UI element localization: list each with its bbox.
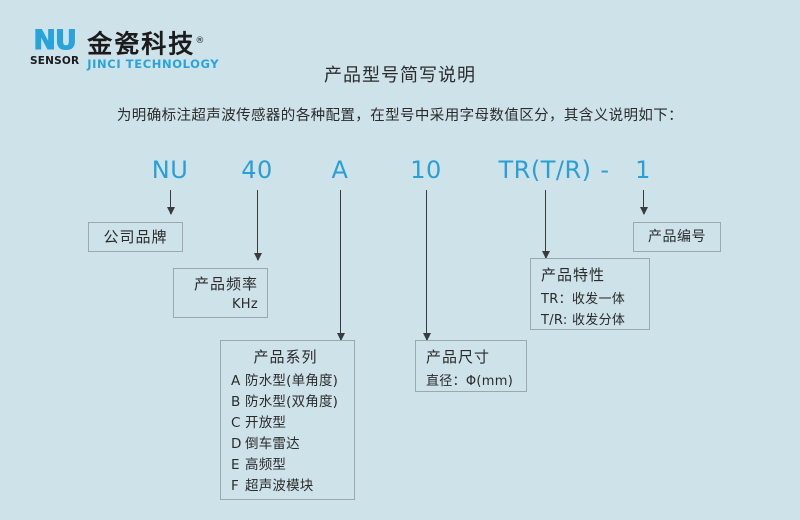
series-label-f: 超声波模块 [245,478,314,494]
arrow-brand [170,190,171,214]
series-item-c: C开放型 [231,413,344,434]
series-item-b: B防水型(双角度) [231,392,344,413]
series-label-a: 防水型(单角度) [245,373,338,389]
arrow-series [340,190,341,340]
arrow-size [426,190,427,340]
box-frequency: 产品频率 KHz [173,268,268,318]
series-label-b: 防水型(双角度) [245,394,338,410]
arrow-feature [545,190,546,258]
code-segment-series: A [332,156,349,184]
series-item-e: E高频型 [231,455,344,476]
box-frequency-title: 产品频率 [183,273,258,294]
registered-trademark-icon: ® [195,36,206,46]
series-item-a: A防水型(单角度) [231,371,344,392]
page-subtitle: 为明确标注超声波传感器的各种配置，在型号中采用字母数值区分，其含义说明如下： [0,104,800,125]
code-segment-dash: - [600,156,609,184]
box-size-detail: 直径：Φ(mm) [426,370,516,389]
box-feature-title: 产品特性 [541,264,639,285]
series-label-e: 高频型 [245,457,286,473]
series-key-b: B [231,392,245,413]
box-series-title: 产品系列 [231,346,344,367]
arrow-serial [643,190,644,214]
code-segment-size: 10 [410,156,442,184]
box-brand: 公司品牌 [88,222,183,252]
box-serial-title: 产品编号 [640,226,714,246]
series-key-a: A [231,371,245,392]
box-size: 产品尺寸 直径：Φ(mm) [415,340,527,392]
box-size-title: 产品尺寸 [426,346,516,367]
code-segment-serial: 1 [635,156,651,184]
series-list: A防水型(单角度) B防水型(双角度) C开放型 D倒车雷达 E高频型 F超声波… [231,371,344,497]
arrow-frequency [257,190,258,260]
box-series: 产品系列 A防水型(单角度) B防水型(双角度) C开放型 D倒车雷达 E高频型… [220,340,355,500]
code-segment-feature: TR(T/R) [499,156,592,184]
series-label-d: 倒车雷达 [245,436,300,452]
series-item-f: F超声波模块 [231,476,344,497]
diagram-canvas: NU SENSOR 金瓷科技® JINCI TECHNOLOGY 产品型号简写说… [0,0,800,520]
box-frequency-unit: KHz [183,297,258,312]
code-segment-frequency: 40 [241,156,273,184]
box-serial: 产品编号 [633,222,721,252]
box-feature-line-tr: TR：收发一体 [541,288,639,307]
series-item-d: D倒车雷达 [231,434,344,455]
logo-nu-text: NU [33,28,76,54]
code-segment-brand: NU [152,156,189,184]
series-key-d: D [231,434,245,455]
logo-brand-cn-text: 金瓷科技 [87,29,195,58]
series-label-c: 开放型 [245,415,286,431]
series-key-c: C [231,413,245,434]
series-key-e: E [231,455,245,476]
logo-brand-cn: 金瓷科技® [87,28,219,57]
series-key-f: F [231,476,245,497]
box-feature-line-t-r: T/R: 收发分体 [541,309,639,328]
box-brand-title: 公司品牌 [97,226,174,247]
page-title: 产品型号简写说明 [0,61,800,87]
box-feature: 产品特性 TR：收发一体 T/R: 收发分体 [530,258,650,330]
